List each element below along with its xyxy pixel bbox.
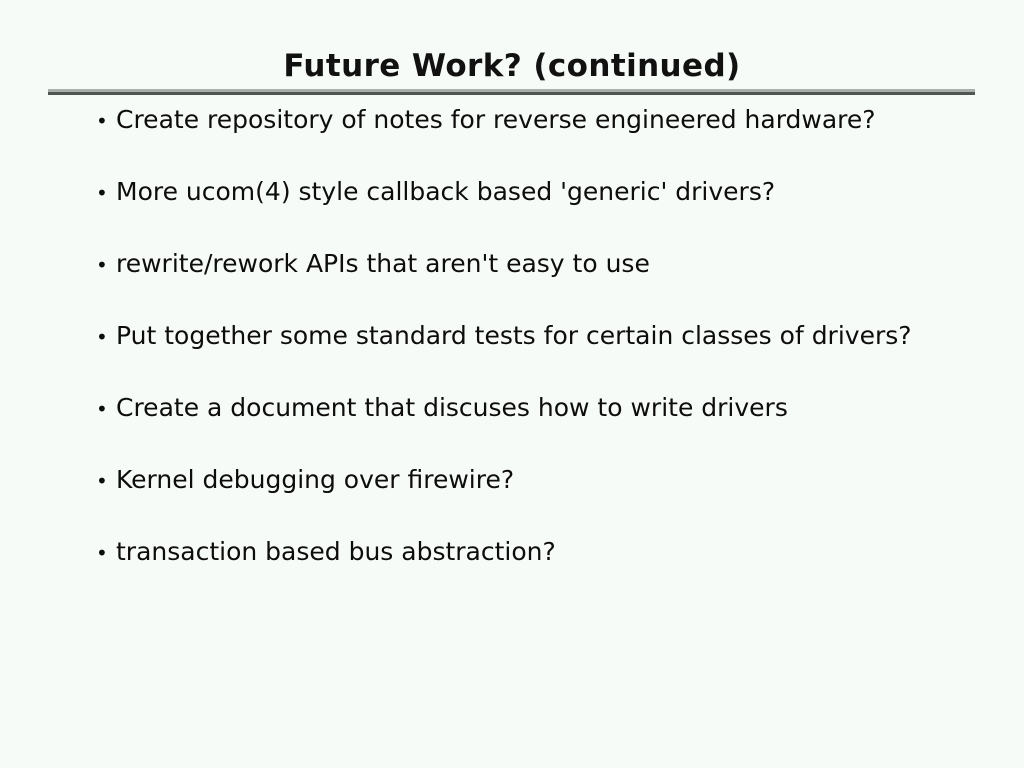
page-title: Future Work? (continued) bbox=[0, 46, 1024, 86]
list-item-label: Kernel debugging over firewire? bbox=[116, 463, 514, 497]
bullet-list: • Create repository of notes for reverse… bbox=[96, 103, 996, 607]
list-item-label: Create repository of notes for reverse e… bbox=[116, 103, 876, 137]
list-item-label: Put together some standard tests for cer… bbox=[116, 319, 912, 353]
list-item: • More ucom(4) style callback based 'gen… bbox=[96, 175, 996, 247]
presentation-slide: Future Work? (continued) • Create reposi… bbox=[0, 0, 1024, 768]
title-divider bbox=[48, 89, 975, 95]
list-item: • Create a document that discuses how to… bbox=[96, 391, 996, 463]
list-item-label: rewrite/rework APIs that aren't easy to … bbox=[116, 247, 650, 281]
bullet-icon: • bbox=[96, 248, 116, 282]
bullet-icon: • bbox=[96, 464, 116, 498]
bullet-icon: • bbox=[96, 104, 116, 138]
list-item: • rewrite/rework APIs that aren't easy t… bbox=[96, 247, 996, 319]
bullet-icon: • bbox=[96, 392, 116, 426]
list-item-label: transaction based bus abstraction? bbox=[116, 535, 556, 569]
list-item: • transaction based bus abstraction? bbox=[96, 535, 996, 607]
bullet-icon: • bbox=[96, 176, 116, 210]
bullet-icon: • bbox=[96, 536, 116, 570]
list-item: • Put together some standard tests for c… bbox=[96, 319, 996, 391]
bullet-icon: • bbox=[96, 320, 116, 354]
list-item-label: More ucom(4) style callback based 'gener… bbox=[116, 175, 775, 209]
list-item: • Create repository of notes for reverse… bbox=[96, 103, 996, 175]
title-divider-shadow bbox=[48, 92, 975, 95]
list-item-label: Create a document that discuses how to w… bbox=[116, 391, 788, 425]
list-item: • Kernel debugging over firewire? bbox=[96, 463, 996, 535]
